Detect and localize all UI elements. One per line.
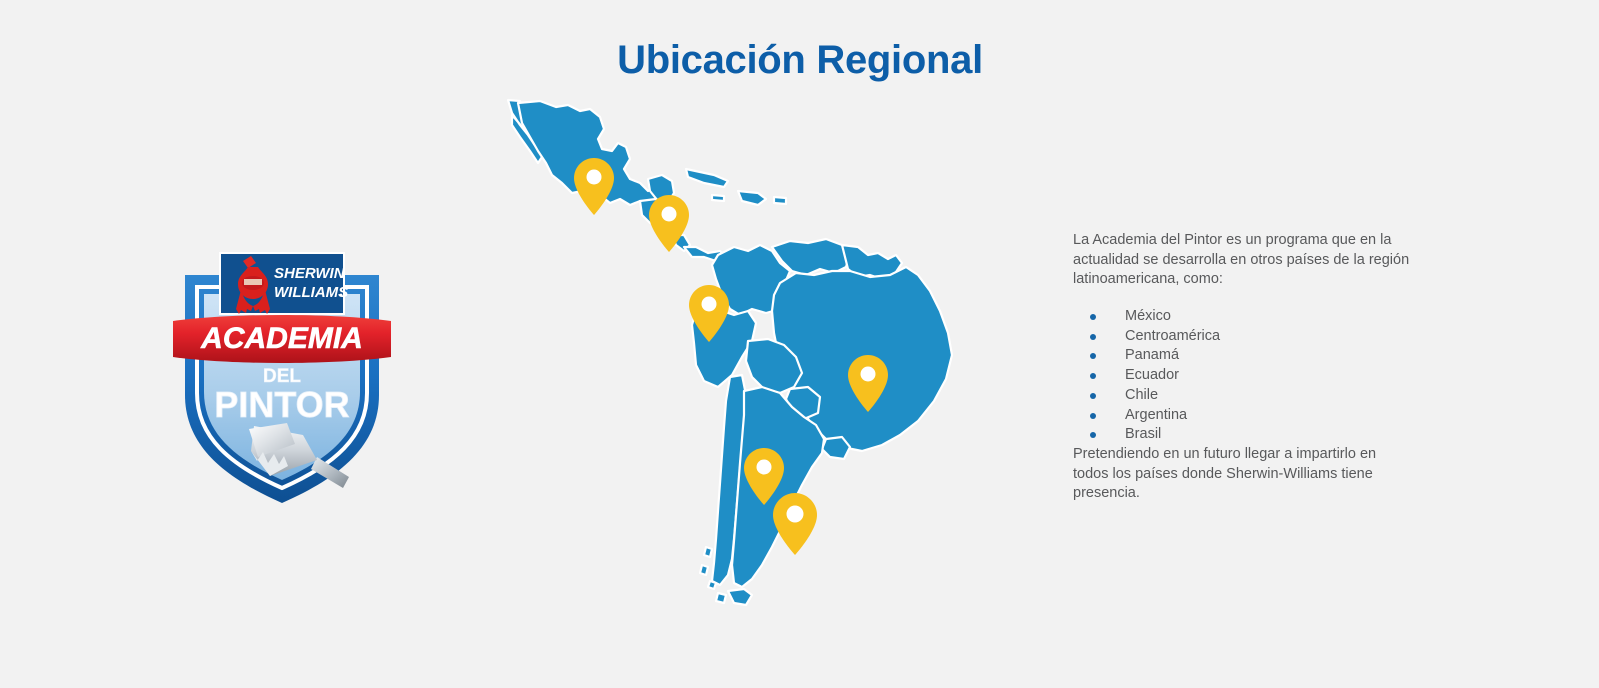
list-item: Ecuador	[1090, 366, 1413, 386]
page-title: Ubicación Regional	[0, 38, 1599, 82]
academia-del-pintor-badge: SHERWIN WILLIAMS ACADEMIA DEL PINTOR	[171, 245, 393, 509]
country-label: Panamá	[1125, 347, 1179, 363]
bullet-dot-icon	[1090, 373, 1096, 379]
list-item: Panamá	[1090, 346, 1413, 366]
pin-argentina[interactable]	[773, 493, 817, 555]
intro-paragraph: La Academia del Pintor es un programa qu…	[1073, 231, 1413, 290]
list-item: México	[1090, 307, 1413, 327]
country-label: México	[1125, 308, 1171, 324]
list-item: Brasil	[1090, 425, 1413, 445]
country-label: Ecuador	[1125, 367, 1179, 383]
brand-line-1: SHERWIN	[274, 265, 346, 282]
country-label: Argentina	[1125, 407, 1187, 423]
list-item: Chile	[1090, 386, 1413, 406]
badge-sub-pintor: PINTOR	[214, 384, 349, 425]
country-label: Chile	[1125, 387, 1158, 403]
bullet-dot-icon	[1090, 334, 1096, 340]
info-column: La Academia del Pintor es un programa qu…	[1073, 231, 1413, 504]
country-list: México Centroamérica Panamá Ecuador Chil…	[1073, 307, 1413, 445]
bullet-dot-icon	[1090, 413, 1096, 419]
bullet-dot-icon	[1090, 432, 1096, 438]
pin-mexico[interactable]	[574, 158, 614, 215]
sherwin-williams-logo: SHERWIN WILLIAMS	[220, 253, 348, 314]
country-label: Centroamérica	[1125, 328, 1220, 344]
banner-text: ACADEMIA	[200, 322, 363, 355]
academia-banner: ACADEMIA	[173, 315, 391, 363]
country-label: Brasil	[1125, 426, 1161, 442]
brand-line-2: WILLIAMS	[274, 284, 348, 301]
bullet-dot-icon	[1090, 353, 1096, 359]
latin-america-map	[490, 95, 1000, 665]
list-item: Argentina	[1090, 406, 1413, 426]
bullet-dot-icon	[1090, 314, 1096, 320]
list-item: Centroamérica	[1090, 327, 1413, 347]
outro-paragraph: Pretendiendo en un futuro llegar a impar…	[1073, 445, 1413, 504]
bullet-dot-icon	[1090, 393, 1096, 399]
